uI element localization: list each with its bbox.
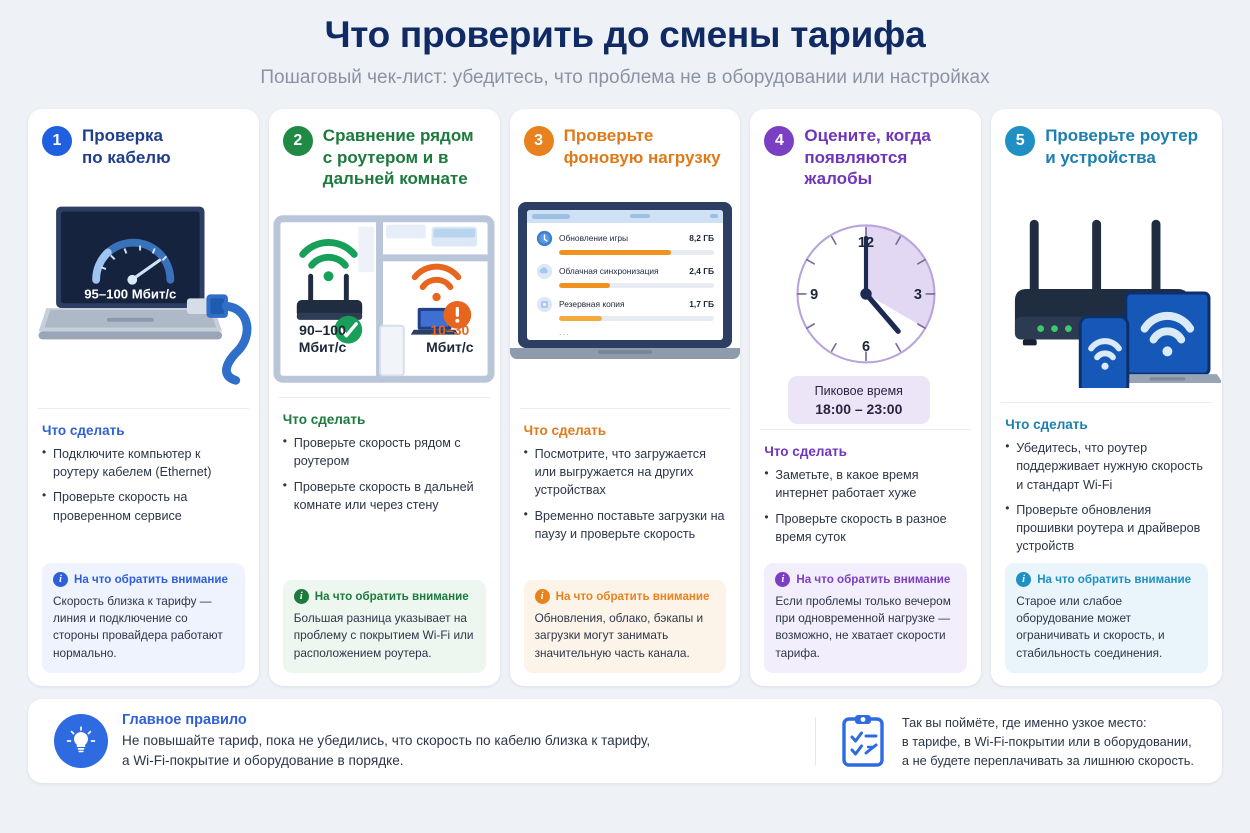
download-progress	[559, 283, 610, 288]
note-box-3: i На что обратить внимание Обновления, о…	[524, 580, 727, 673]
download-label: Обновление игры	[559, 233, 683, 243]
card-title-4: Оцените, когдапоявляются жалобы	[804, 125, 967, 189]
download-size: 1,7 ГБ	[689, 299, 714, 309]
todo-item: Убедитесь, что роутер поддерживает нужну…	[1005, 439, 1208, 494]
lightbulb-icon	[54, 714, 108, 768]
download-progress	[559, 316, 602, 321]
laptop-base-notch	[598, 350, 652, 354]
header: Что проверить до смены тарифа Пошаговый …	[28, 0, 1222, 89]
result-block: Так вы поймёте, где именно узкое место:в…	[838, 713, 1204, 771]
todo-list-3: Посмотрите, что загружается или выгружае…	[524, 445, 727, 550]
todo-list-4: Заметьте, в какое время интернет работае…	[764, 466, 967, 553]
checklist-card-3[interactable]: 3 Проверьтефоновую нагрузку	[510, 109, 741, 686]
todo-item: Временно поставьте загрузки на паузу и п…	[524, 507, 727, 544]
note-text: Обновления, облако, бэкапы и загрузки мо…	[535, 610, 716, 662]
note-title: На что обратить внимание	[1037, 573, 1191, 586]
todo-item: Проверьте скорость в разное время суток	[764, 510, 967, 547]
far-speed-label: 10–30Мбит/с	[426, 322, 473, 355]
todo-list-1: Подключите компьютер к роутеру кабелем (…	[42, 445, 245, 532]
lightbulb-glyph	[65, 725, 97, 757]
todo-item: Проверьте скорость на проверенном сервис…	[42, 488, 245, 525]
note-box-2: i На что обратить внимание Большая разни…	[283, 580, 486, 673]
todo-item: Проверьте скорость рядом с роутером	[283, 434, 486, 471]
download-label: Резервная копия	[559, 299, 683, 309]
checklist-card-4[interactable]: 4 Оцените, когдапоявляются жалобы	[750, 109, 981, 686]
note-header: i На что обратить внимание	[775, 572, 956, 587]
download-row: Резервная копия 1,7 ГБ	[536, 296, 714, 313]
download-size: 8,2 ГБ	[689, 233, 714, 243]
note-text: Старое или слабое оборудование может огр…	[1016, 593, 1197, 663]
footer-summary: Главное правило Не повышайте тариф, пока…	[28, 699, 1222, 783]
note-title: На что обратить внимание	[556, 590, 710, 603]
illustration-laptop-speedtest: 95–100 Мбит/с	[28, 176, 259, 408]
note-title: На что обратить внимание	[315, 590, 469, 603]
step-badge-3: 3	[524, 126, 554, 156]
main-rule-title: Главное правило	[122, 712, 650, 728]
note-title: На что обратить внимание	[74, 573, 228, 586]
illustration-clock: 12 3 6 9 Пиковое время 18:00 – 23:00	[750, 197, 981, 429]
card-header: 2 Сравнение рядомс роутером и вдальней к…	[269, 109, 500, 195]
todo-label: Что сделать	[764, 444, 967, 459]
card-header: 5 Проверьте роутери устройства	[991, 109, 1222, 174]
note-header: i На что обратить внимание	[1016, 572, 1197, 587]
card-body-5: Что сделать Убедитесь, что роутер поддер…	[991, 403, 1222, 686]
card-body-3: Что сделать Посмотрите, что загружается …	[510, 409, 741, 687]
clock-tick-9: 9	[810, 287, 818, 303]
note-text: Скорость близка к тарифу — линия и подкл…	[53, 593, 234, 663]
info-icon: i	[294, 589, 309, 604]
todo-item: Проверьте обновления прошивки роутера и …	[1005, 501, 1208, 556]
main-rule-block: Главное правило Не повышайте тариф, пока…	[46, 712, 793, 770]
page-subtitle: Пошаговый чек-лист: убедитесь, что пробл…	[28, 67, 1222, 90]
note-text: Если проблемы только вечером при одновре…	[775, 593, 956, 663]
todo-label: Что сделать	[283, 412, 486, 427]
note-header: i На что обратить внимание	[53, 572, 234, 587]
clock-peak-icon: 12 3 6 9	[755, 213, 977, 379]
info-icon: i	[1016, 572, 1031, 587]
peak-time-value: 18:00 – 23:00	[815, 401, 902, 417]
floorplan-wifi-icon	[273, 213, 495, 385]
note-box-5: i На что обратить внимание Старое или сл…	[1005, 563, 1208, 674]
peak-time-label: Пиковое время	[815, 384, 903, 398]
clipboard-check-icon	[838, 713, 888, 769]
speed-value-label: 95–100 Мбит/с	[85, 287, 177, 302]
checklist-card-2[interactable]: 2 Сравнение рядомс роутером и вдальней к…	[269, 109, 500, 686]
step-badge-4: 4	[764, 126, 794, 156]
checklist-cards: 1 Проверкапо кабелю	[28, 109, 1222, 686]
step-badge-1: 1	[42, 126, 72, 156]
card-header: 1 Проверкапо кабелю	[28, 109, 259, 174]
todo-label: Что сделать	[42, 423, 245, 438]
laptop-screen: Обновление игры 8,2 ГБ	[527, 210, 723, 340]
note-text: Большая разница указывает на проблему с …	[294, 610, 475, 662]
todo-label: Что сделать	[524, 423, 727, 438]
illustration-router-devices	[991, 176, 1222, 402]
footer-divider	[815, 717, 816, 765]
page-title: Что проверить до смены тарифа	[28, 14, 1222, 57]
card-title-2: Сравнение рядомс роутером и вдальней ком…	[323, 125, 474, 189]
router-devices-icon	[993, 190, 1221, 388]
todo-item: Подключите компьютер к роутеру кабелем (…	[42, 445, 245, 482]
main-rule-text-block: Главное правило Не повышайте тариф, пока…	[122, 712, 650, 770]
step-badge-5: 5	[1005, 126, 1035, 156]
app-toolbar	[527, 210, 723, 223]
checklist-card-5[interactable]: 5 Проверьте роутери устройства	[991, 109, 1222, 686]
todo-item: Заметьте, в какое время интернет работае…	[764, 466, 967, 503]
info-icon: i	[775, 572, 790, 587]
illustration-download-list: Обновление игры 8,2 ГБ	[510, 176, 741, 408]
peak-time-pill: Пиковое время 18:00 – 23:00	[788, 376, 930, 424]
download-clock-icon	[536, 230, 553, 247]
result-text: Так вы поймёте, где именно узкое место:в…	[902, 713, 1194, 771]
todo-item: Посмотрите, что загружается или выгружае…	[524, 445, 727, 500]
todo-list-5: Убедитесь, что роутер поддерживает нужну…	[1005, 439, 1208, 563]
note-box-4: i На что обратить внимание Если проблемы…	[764, 563, 967, 674]
download-more-label: ...	[559, 327, 714, 337]
todo-item: Проверьте скорость в дальней комнате или…	[283, 478, 486, 515]
note-title: На что обратить внимание	[796, 573, 950, 586]
todo-label: Что сделать	[1005, 417, 1208, 432]
card-body-1: Что сделать Подключите компьютер к роуте…	[28, 409, 259, 687]
main-rule-text: Не повышайте тариф, пока не убедились, ч…	[122, 731, 650, 770]
download-size: 2,4 ГБ	[689, 266, 714, 276]
todo-list-2: Проверьте скорость рядом с роутером Пров…	[283, 434, 486, 521]
download-row: Облачная синхронизация 2,4 ГБ	[536, 263, 714, 280]
illustration-floorplan: 90–100Мбит/с 10–30Мбит/с	[269, 201, 500, 397]
note-box-1: i На что обратить внимание Скорость близ…	[42, 563, 245, 674]
clock-tick-6: 6	[862, 339, 870, 355]
near-speed-label: 90–100Мбит/с	[299, 322, 346, 355]
note-header: i На что обратить внимание	[294, 589, 475, 604]
card-body-4: Что сделать Заметьте, в какое время инте…	[750, 430, 981, 686]
card-header: 4 Оцените, когдапоявляются жалобы	[750, 109, 981, 195]
cloud-sync-icon	[536, 263, 553, 280]
info-icon: i	[53, 572, 68, 587]
laptop-speedtest-icon: 95–100 Мбит/с	[29, 189, 257, 394]
infographic-page: Что проверить до смены тарифа Пошаговый …	[0, 0, 1250, 833]
download-row: Обновление игры 8,2 ГБ	[536, 230, 714, 247]
download-progress	[559, 250, 671, 255]
card-header: 3 Проверьтефоновую нагрузку	[510, 109, 741, 174]
checklist-card-1[interactable]: 1 Проверкапо кабелю	[28, 109, 259, 686]
clock-tick-3: 3	[914, 287, 922, 303]
card-title-5: Проверьте роутери устройства	[1045, 125, 1198, 168]
note-header: i На что обратить внимание	[535, 589, 716, 604]
card-title-1: Проверкапо кабелю	[82, 125, 171, 168]
card-body-2: Что сделать Проверьте скорость рядом с р…	[269, 398, 500, 686]
step-badge-2: 2	[283, 126, 313, 156]
card-title-3: Проверьтефоновую нагрузку	[564, 125, 721, 168]
download-label: Облачная синхронизация	[559, 266, 683, 276]
info-icon: i	[535, 589, 550, 604]
backup-icon	[536, 296, 553, 313]
